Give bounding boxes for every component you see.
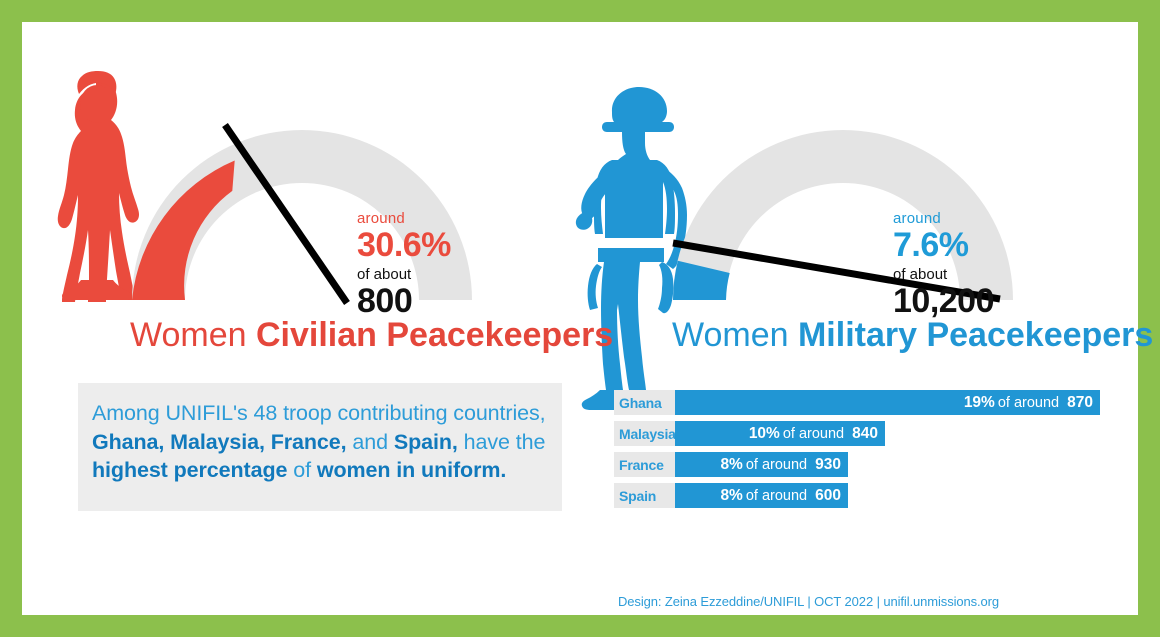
statement-line-3: highest percentage of women in uniform. xyxy=(92,456,548,485)
bar-fill-malaysia: 10% of around 840 xyxy=(675,421,885,446)
civilian-around-label: around xyxy=(357,211,451,226)
military-gauge-readout: around 7.6% of about 10,200 xyxy=(893,211,994,318)
statement-of: of xyxy=(287,458,316,482)
bar-label-ghana: Ghana xyxy=(614,390,675,415)
statement-women-in-uniform: women in uniform. xyxy=(317,458,506,482)
table-row: Spain 8% of around 600 xyxy=(614,483,1104,508)
military-percent-value: 7.6% xyxy=(893,228,994,262)
country-bar-chart: Ghana 19% of around 870 Malaysia 10% of … xyxy=(614,390,1104,514)
bar-mid-ghana: of around xyxy=(998,395,1059,411)
statement-highest-percentage: highest percentage xyxy=(92,458,287,482)
bar-label-france: France xyxy=(614,452,675,477)
statement-have-the: have the xyxy=(458,430,546,454)
statement-line1-text: Among UNIFIL's 48 troop contributing cou… xyxy=(92,401,546,425)
bar-label-spain: Spain xyxy=(614,483,675,508)
infographic-poster: around 30.6% of about 800 around 7.6% of… xyxy=(0,0,1160,637)
statement-line-2: Ghana, Malaysia, France, and Spain, have… xyxy=(92,428,548,457)
military-heading: Women Military Peacekeepers xyxy=(672,318,1153,352)
table-row: Ghana 19% of around 870 xyxy=(614,390,1104,415)
military-around-label: around xyxy=(893,211,994,226)
table-row: Malaysia 10% of around 840 xyxy=(614,421,1104,446)
bar-percent-ghana: 19% xyxy=(964,394,995,412)
statement-country-spain: Spain, xyxy=(394,430,458,454)
bar-total-spain: 600 xyxy=(815,487,841,505)
bar-total-france: 930 xyxy=(815,456,841,474)
bar-mid-spain: of around xyxy=(746,488,807,504)
civilian-percent-value: 30.6% xyxy=(357,228,451,262)
civilian-heading-bold: Civilian Peacekeepers xyxy=(256,316,613,354)
bar-total-ghana: 870 xyxy=(1067,394,1093,412)
credit-footer: Design: Zeina Ezzeddine/UNIFIL | OCT 202… xyxy=(618,594,999,609)
civilian-heading-light: Women xyxy=(130,316,247,354)
civilian-of-about-label: of about xyxy=(357,267,451,282)
civilian-total-value: 800 xyxy=(357,284,451,318)
military-heading-light: Women xyxy=(672,316,789,354)
civilian-heading: Women Civilian Peacekeepers xyxy=(130,318,613,352)
military-of-about-label: of about xyxy=(893,267,994,282)
bar-label-malaysia: Malaysia xyxy=(614,421,675,446)
bar-mid-malaysia: of around xyxy=(783,426,844,442)
bar-percent-malaysia: 10% xyxy=(749,425,780,443)
bar-percent-france: 8% xyxy=(720,456,742,474)
statement-countries-1: Ghana, Malaysia, France, xyxy=(92,430,347,454)
statement-panel: Among UNIFIL's 48 troop contributing cou… xyxy=(78,383,562,511)
bar-mid-france: of around xyxy=(746,457,807,473)
bar-fill-spain: 8% of around 600 xyxy=(675,483,848,508)
military-heading-bold: Military Peacekeepers xyxy=(798,316,1153,354)
bar-fill-ghana: 19% of around 870 xyxy=(675,390,1100,415)
civilian-gauge-readout: around 30.6% of about 800 xyxy=(357,211,451,318)
bar-fill-france: 8% of around 930 xyxy=(675,452,848,477)
statement-line-1: Among UNIFIL's 48 troop contributing cou… xyxy=(92,399,548,428)
table-row: France 8% of around 930 xyxy=(614,452,1104,477)
military-total-value: 10,200 xyxy=(893,284,994,318)
statement-and: and xyxy=(347,430,394,454)
bar-percent-spain: 8% xyxy=(720,487,742,505)
bar-total-malaysia: 840 xyxy=(852,425,878,443)
